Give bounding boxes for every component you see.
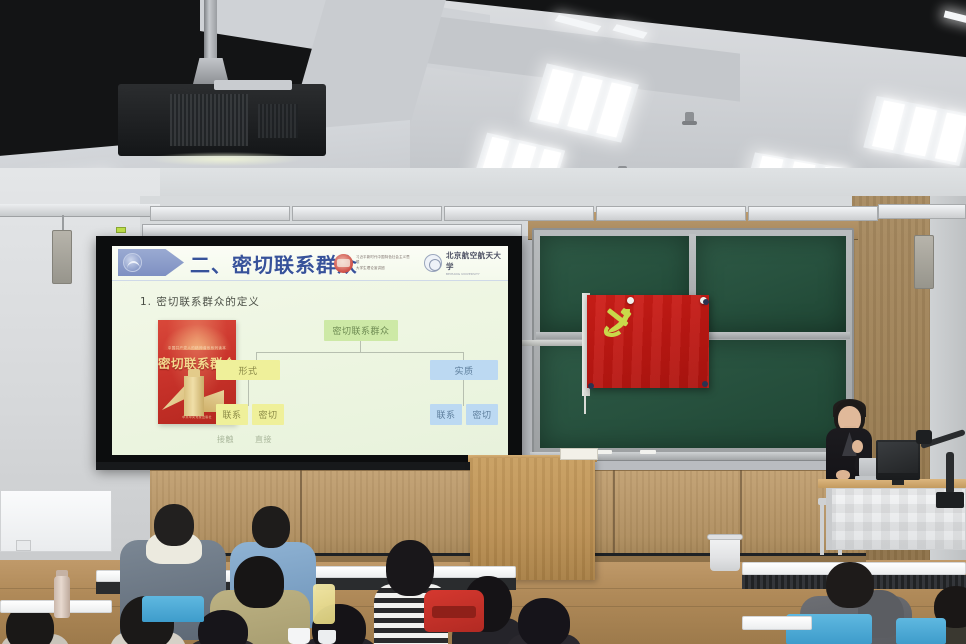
slide-title: 二、密切联系群众 [190, 249, 358, 278]
diagram-root-node: 密切联系群众 [324, 320, 398, 341]
presentation-slide[interactable]: 二、密切联系群众 习近平新时代中国特色社会主义思想 大学生理论宣讲团 北京航空航… [112, 246, 508, 455]
poster-top-text: 中国共产党人的精神谱系系列读本 [158, 346, 236, 351]
chalk-piece [596, 450, 612, 454]
projector-mount-bar [214, 80, 292, 90]
slide-subtitle: 1. 密切联系群众的定义 [140, 294, 260, 309]
red-circular-seal-icon [334, 254, 353, 273]
lectern-papers [560, 448, 598, 460]
diagram-leaf-form-miqie: 密切 [252, 404, 284, 425]
student-head [386, 540, 434, 596]
student-head [234, 556, 284, 608]
presenter-desk-leg [826, 488, 832, 550]
diagram-leaf-essence-lianxi: 联系 [430, 404, 462, 425]
projection-screen-bottom-bar [96, 462, 522, 470]
status-led-indicator [116, 227, 126, 233]
water-bottle [54, 576, 70, 618]
student-head [154, 504, 194, 546]
diagram-footnote-zhijie: 直接 [255, 434, 272, 445]
student-chair [142, 596, 204, 622]
chalk-piece [640, 450, 656, 454]
partnership-logo-text: 习近平新时代中国特色社会主义思想 大学生理论宣讲团 [356, 255, 412, 270]
projector-vent-secondary [258, 104, 298, 138]
paper-cup [288, 628, 310, 644]
flag-pin [627, 297, 634, 304]
projector-vent-grill [170, 94, 248, 146]
classroom-scene: 二、密切联系群众 习近平新时代中国特色社会主义思想 大学生理论宣讲团 北京航空航… [0, 0, 966, 644]
camera-arm-lower [946, 452, 954, 494]
poster-monument-icon [184, 376, 204, 416]
student-desk [742, 616, 812, 630]
trash-bin-rim [707, 534, 743, 540]
monitor-stand [892, 480, 904, 485]
blackboard-upper-right [696, 236, 846, 332]
wood-panel-seam [740, 470, 742, 562]
camera-head [916, 430, 932, 444]
flag-clip [588, 383, 594, 389]
ceiling-rail [0, 204, 160, 217]
presenter-hand [852, 440, 863, 453]
hammer-and-sickle-icon [600, 305, 644, 341]
student-head [826, 562, 874, 608]
diagram-branch-form: 形式 [216, 360, 280, 380]
projector-lens-glow [150, 152, 300, 166]
flag-support-rod [520, 340, 588, 346]
student-chair [896, 618, 946, 644]
camera-arm-base [936, 492, 964, 508]
speaker-wire [62, 215, 64, 231]
monitor-screen [878, 442, 918, 473]
right-wall-speaker [914, 235, 934, 289]
university-logo-text: 北京航空航天大学 BEIHANG UNIVERSITY [446, 250, 506, 276]
wood-panel-seam [613, 470, 615, 562]
diagram-connector [360, 341, 361, 352]
flag-cord [584, 392, 586, 414]
partnership-logo: 习近平新时代中国特色社会主义思想 大学生理论宣讲团 [334, 253, 412, 273]
university-logo: 北京航空航天大学 BEIHANG UNIVERSITY [424, 252, 506, 274]
diagram-connector [248, 380, 249, 406]
camera-boom-arm [920, 430, 966, 500]
ceiling-rail-segment [150, 206, 290, 221]
diagram-connector [256, 352, 464, 353]
trash-bin [710, 537, 740, 571]
chair-leg [820, 505, 824, 555]
sprinkler-head-icon [685, 112, 694, 125]
student-head [518, 598, 570, 644]
ceiling-rail-segment [878, 204, 966, 219]
backpack-flap [432, 606, 476, 618]
projector-mount-pole [204, 0, 217, 68]
ceiling-rail-segment [444, 206, 594, 221]
diagram-branch-essence: 实质 [430, 360, 498, 380]
ceiling-rail-segment [748, 206, 878, 221]
ceiling-rail-segment [292, 206, 442, 221]
paper-cup [318, 630, 336, 644]
diagram-leaf-essence-miqie: 密切 [466, 404, 498, 425]
left-wall-speaker [52, 230, 72, 284]
flag-clip [703, 299, 709, 305]
ceiling-rail-segment [596, 206, 746, 221]
diagram-connector [463, 380, 464, 406]
university-seal-icon [424, 254, 442, 272]
student-head [198, 610, 248, 644]
wall-outlet [16, 540, 31, 551]
desktop-monitor[interactable] [876, 440, 920, 480]
student-head [252, 506, 290, 548]
wooden-lectern [470, 458, 595, 580]
diagram-leaf-form-lianxi: 联系 [216, 404, 248, 425]
diagram-footnote-jiechu: 接触 [217, 434, 234, 445]
flag-clip [702, 381, 708, 387]
snack-bag [313, 584, 335, 624]
slide-emblem-icon [123, 253, 142, 272]
